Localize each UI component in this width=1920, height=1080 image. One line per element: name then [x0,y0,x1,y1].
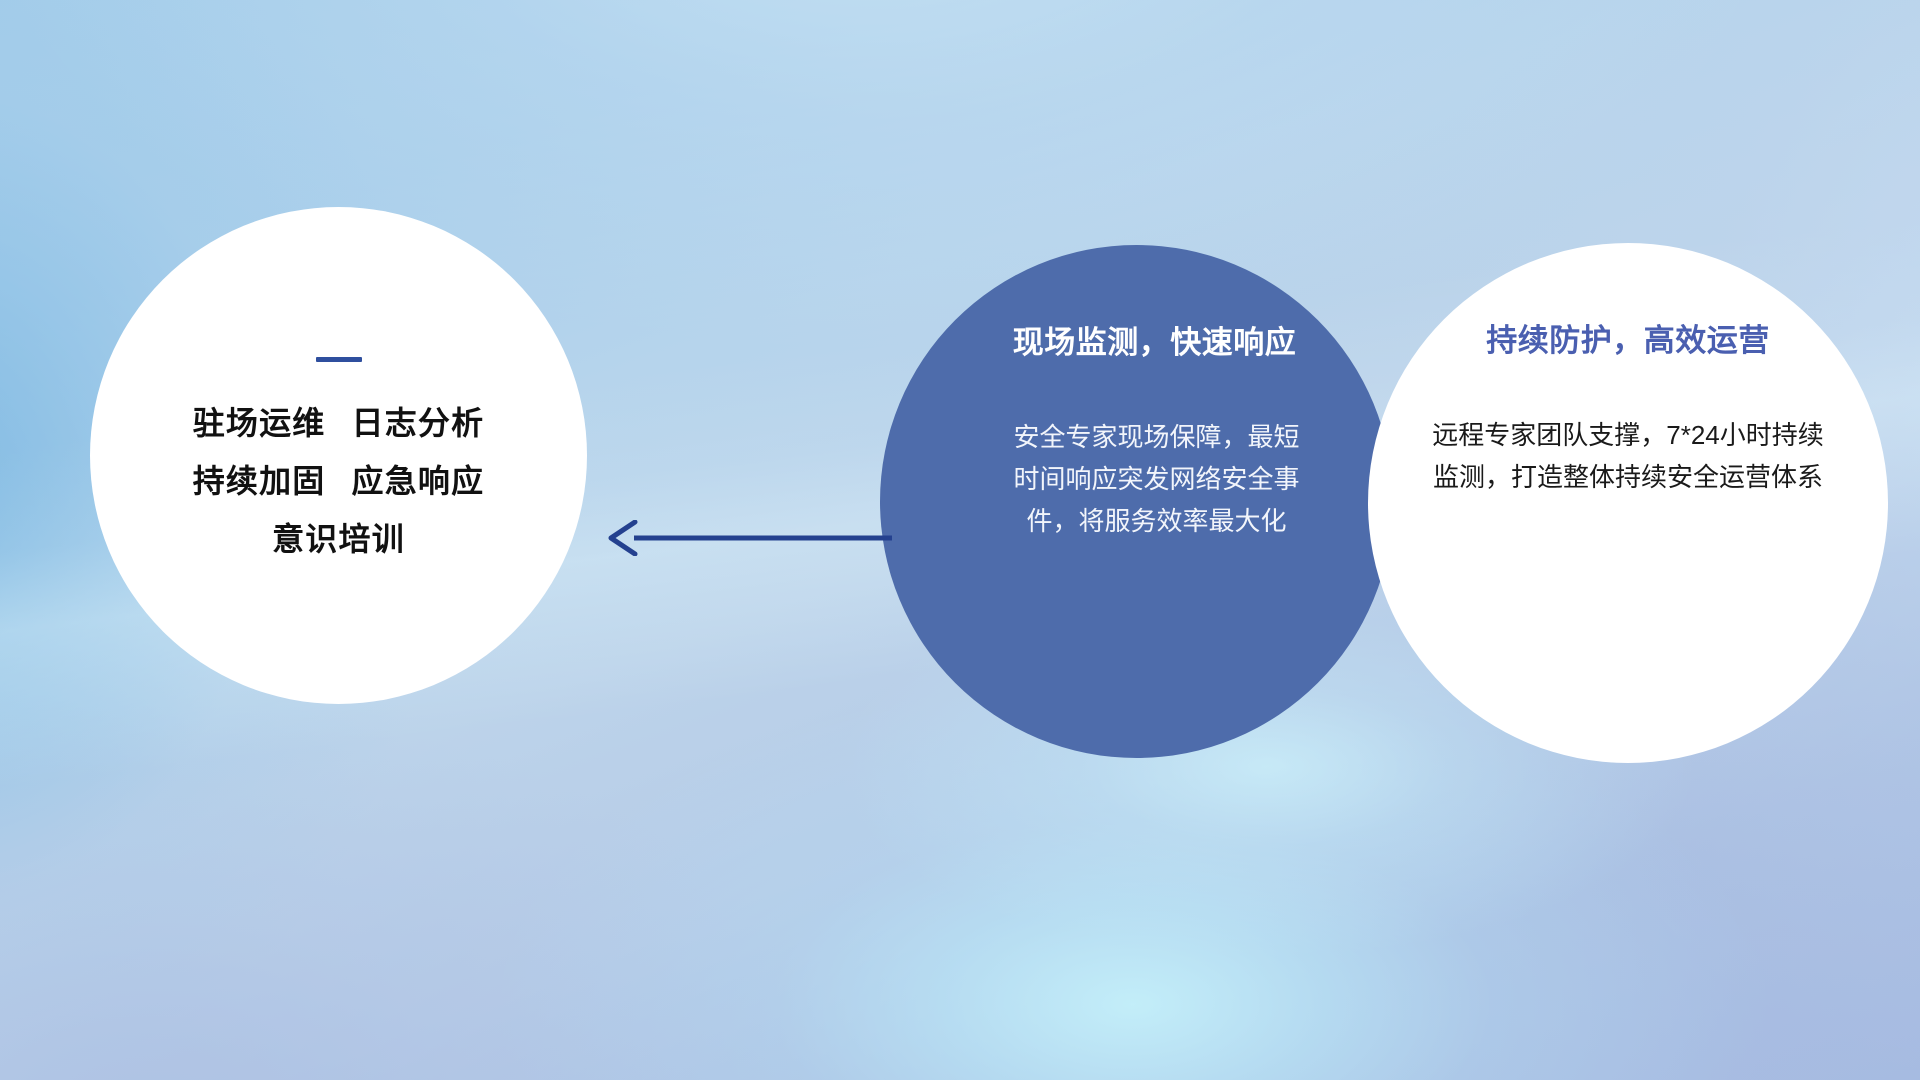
continuous-protection-title: 持续防护，高效运营 [1486,315,1770,360]
onsite-monitoring-title: 现场监测，快速响应 [1013,317,1297,362]
capability-label-rizhifenxi: 日志分析 [352,405,485,441]
onsite-monitoring-circle[interactable]: 现场监测，快速响应 安全专家现场保障，最短时间响应突发网络安全事件，将服务效率最… [880,245,1393,758]
capabilities-row-1: 驻场运维日志分析 [193,407,485,439]
arrow-head [611,522,635,554]
continuous-protection-circle[interactable]: 持续防护，高效运营 远程专家团队支撑，7*24小时持续监测，打造整体持续安全运营… [1368,243,1888,763]
capability-label-yishipeixun: 意识培训 [272,521,405,557]
capability-label-chixujiagu: 持续加固 [193,463,326,499]
capability-label-zhuchangyunwei: 驻场运维 [193,405,326,441]
onsite-monitoring-body: 安全专家现场保障，最短时间响应突发网络安全事件，将服务效率最大化 [1007,416,1307,542]
onsite-monitoring-content: 现场监测，快速响应 安全专家现场保障，最短时间响应突发网络安全事件，将服务效率最… [880,245,1393,758]
diagram-canvas: 驻场运维日志分析 持续加固应急响应 意识培训 现场监测，快速响应 安全专家现场保… [0,0,1920,1080]
capability-label-yingjixiangying: 应急响应 [352,463,485,499]
divider-dash [316,357,362,362]
capabilities-row-2: 持续加固应急响应 [193,465,485,497]
capabilities-circle[interactable]: 驻场运维日志分析 持续加固应急响应 意识培训 [90,207,587,704]
flow-arrow-left-icon [604,520,894,556]
continuous-protection-body: 远程专家团队支撑，7*24小时持续监测，打造整体持续安全运营体系 [1423,414,1833,498]
capabilities-list: 驻场运维日志分析 持续加固应急响应 意识培训 [193,407,485,555]
capabilities-row-3: 意识培训 [272,523,405,555]
